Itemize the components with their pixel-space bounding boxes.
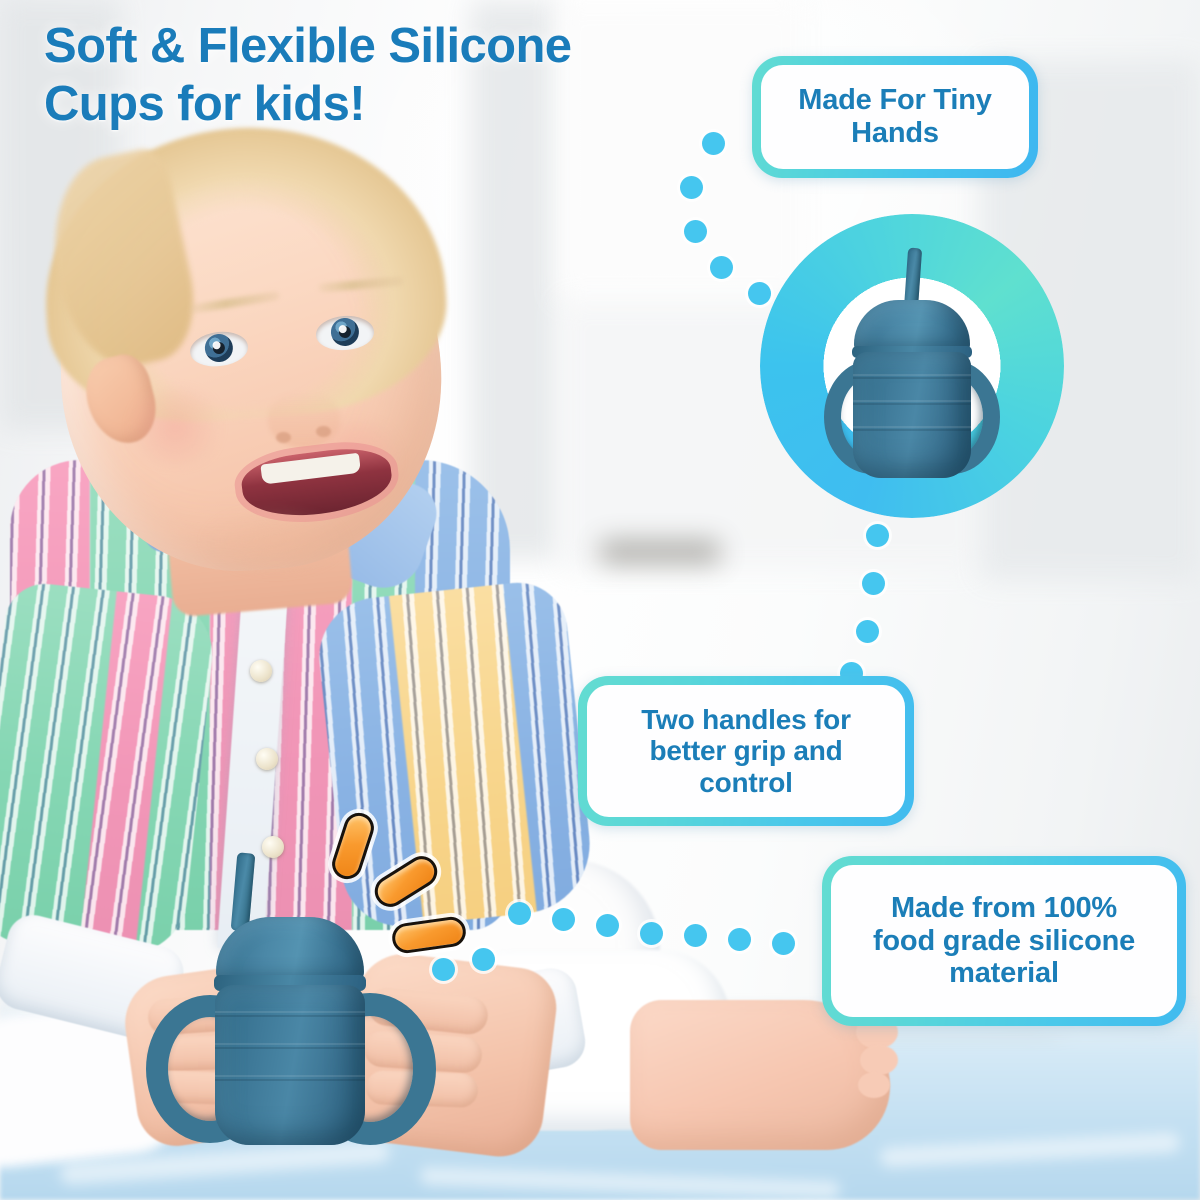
connector-dot bbox=[728, 928, 751, 951]
cup-lid bbox=[854, 300, 970, 352]
cup-body bbox=[215, 985, 365, 1145]
connector-dot bbox=[508, 902, 531, 925]
callout-text: Made For Tiny Hands bbox=[798, 84, 991, 150]
callout-food-grade-silicone[interactable]: Made from 100% food grade silicone mater… bbox=[822, 856, 1186, 1026]
callout-text: Two handles for better grip and control bbox=[641, 704, 851, 799]
connector-dot bbox=[596, 914, 619, 937]
chin bbox=[200, 506, 350, 576]
connector-dot bbox=[684, 924, 707, 947]
callout-inner: Made For Tiny Hands bbox=[761, 65, 1029, 169]
infographic-canvas: Soft & Flexible Silicone Cups for kids! … bbox=[0, 0, 1200, 1200]
connector-dot bbox=[772, 932, 795, 955]
connector-dot bbox=[552, 908, 575, 931]
cheek bbox=[120, 388, 230, 466]
connector-dot bbox=[866, 524, 889, 547]
callout-inner: Made from 100% food grade silicone mater… bbox=[831, 865, 1177, 1017]
shirt-button bbox=[256, 748, 278, 770]
connector-dot bbox=[862, 572, 885, 595]
connector-dot bbox=[710, 256, 733, 279]
connector-dot bbox=[472, 948, 495, 971]
connector-dot bbox=[432, 958, 455, 981]
callout-text: Made from 100% food grade silicone mater… bbox=[873, 892, 1135, 990]
connector-dot bbox=[856, 620, 879, 643]
connector-dot bbox=[684, 220, 707, 243]
connector-dot bbox=[748, 282, 771, 305]
callout-made-for-tiny-hands[interactable]: Made For Tiny Hands bbox=[752, 56, 1038, 178]
callout-inner: Two handles for better grip and control bbox=[587, 685, 905, 817]
headline-line-1: Soft & Flexible Silicone bbox=[44, 18, 744, 76]
cup-body bbox=[853, 352, 971, 478]
sippy-cup-product bbox=[822, 248, 1002, 478]
cup-lid bbox=[216, 917, 364, 983]
connector-dot bbox=[640, 922, 663, 945]
headline-line-2: Cups for kids! bbox=[44, 76, 744, 134]
connector-dot bbox=[680, 176, 703, 199]
connector-dot bbox=[702, 132, 725, 155]
page-title: Soft & Flexible Silicone Cups for kids! bbox=[44, 18, 744, 134]
shirt-button bbox=[250, 660, 272, 682]
callout-two-handles[interactable]: Two handles for better grip and control bbox=[578, 676, 914, 826]
